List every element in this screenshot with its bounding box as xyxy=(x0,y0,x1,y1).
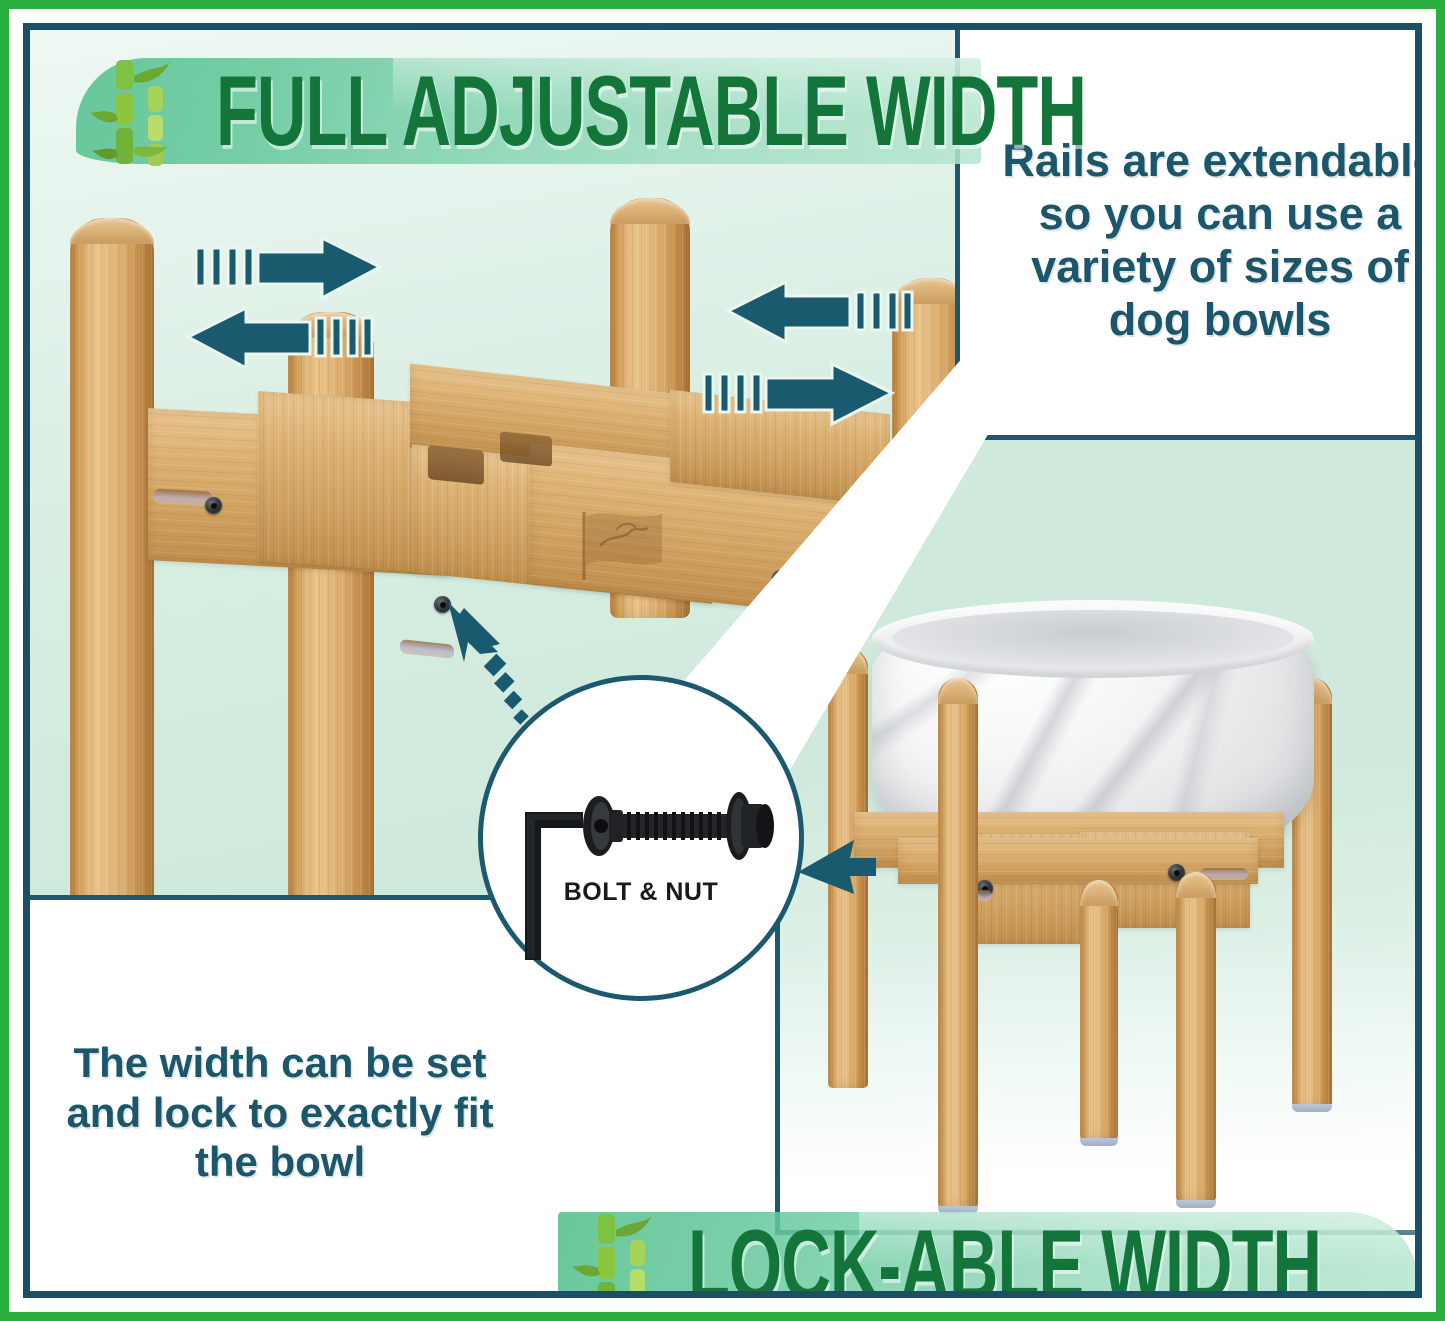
leg-foot-pad-4 xyxy=(1292,1104,1332,1112)
poster-root: BOLT & NUT FULL ADJUST xyxy=(0,0,1445,1321)
callout-label: BOLT & NUT xyxy=(483,878,799,907)
bolt-head-left-rail xyxy=(205,497,222,514)
banner-bottom: LOCK-ABLE WIDTH xyxy=(558,1212,1418,1298)
poster-white-gap: BOLT & NUT FULL ADJUST xyxy=(9,9,1436,1312)
right-photo-panel xyxy=(775,435,1422,1235)
banner-top: FULL ADJUSTABLE WIDTH xyxy=(76,58,981,164)
stand-leg-front-right xyxy=(1176,872,1216,1202)
bamboo-post-left-rear xyxy=(70,218,154,900)
arrow-left-upper-right xyxy=(720,280,916,346)
rail-notch-a xyxy=(428,445,484,485)
nut-icon xyxy=(726,792,774,860)
stand-leg-front-mid xyxy=(1080,880,1118,1140)
bamboo-icon xyxy=(572,1206,692,1298)
rail-notch-b xyxy=(500,431,552,466)
brand-logo-icon xyxy=(570,506,680,584)
banner-bottom-label: LOCK-ABLE WIDTH xyxy=(688,1218,1321,1298)
leg-foot-pad-2 xyxy=(1080,1138,1118,1146)
bolt-nut-callout: BOLT & NUT xyxy=(478,675,804,1001)
copy-left-lockable: The width can be set and lock to exactly… xyxy=(60,1038,500,1187)
arrow-left-top xyxy=(182,306,374,372)
bolt-icon xyxy=(579,788,777,864)
bowl-interior xyxy=(892,610,1294,666)
arrow-right-lower-right xyxy=(702,362,898,428)
rail-adjust-slot-left xyxy=(154,488,212,506)
arrow-right-top xyxy=(194,236,384,302)
leg-foot-pad-3 xyxy=(1176,1200,1216,1208)
bamboo-icon xyxy=(90,52,210,170)
poster-inner-frame: BOLT & NUT FULL ADJUST xyxy=(23,23,1422,1298)
bolt-head-right-rail xyxy=(772,570,789,587)
banner-top-label: FULL ADJUSTABLE WIDTH xyxy=(216,64,1086,158)
stand-leg-front-left xyxy=(938,678,978,1208)
